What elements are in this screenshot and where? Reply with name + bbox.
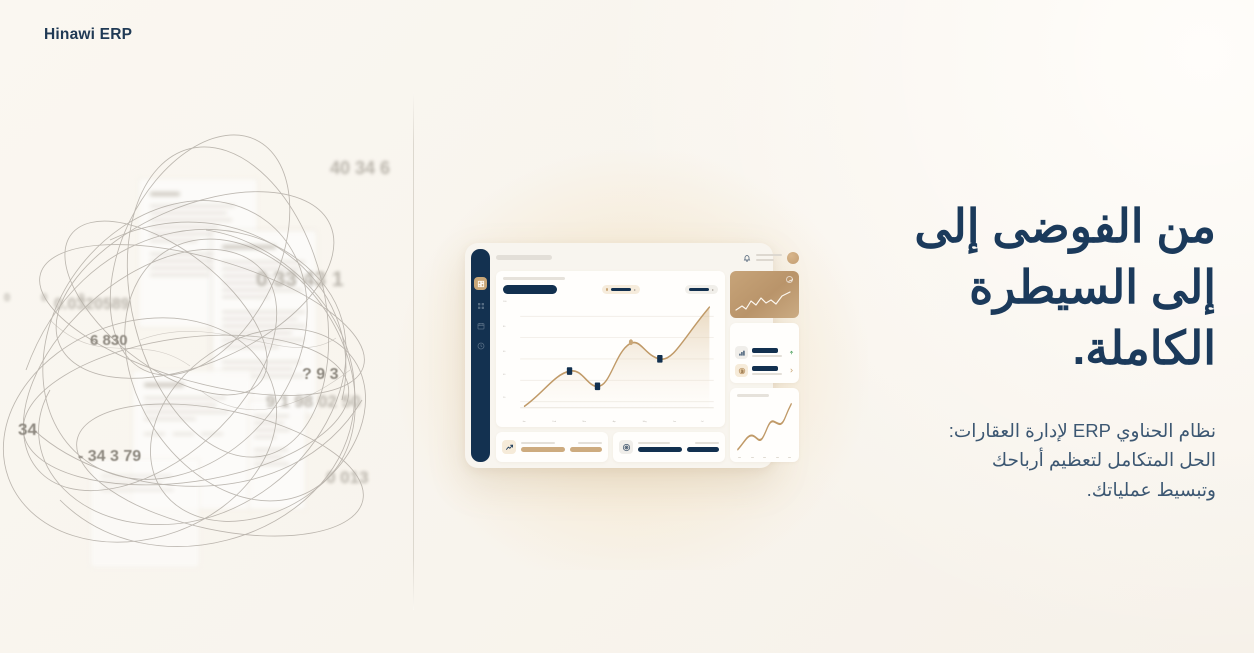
brand-logo-text: Hinawi ERP — [44, 26, 132, 44]
x-tick-label: May — [643, 421, 647, 423]
tablet-device-mockup: 100 80 60 40 20 Jan Feb Mar Apr May Jun — [465, 243, 773, 468]
dashboard-topbar — [496, 249, 799, 266]
chaos-number: - 34 3 79 — [78, 448, 141, 466]
x-tick-label: Feb — [552, 421, 556, 423]
headline-line-1: من الفوضى إلى — [786, 196, 1216, 257]
y-tick-label: 80 — [503, 326, 505, 328]
kpi-value-block — [638, 442, 682, 452]
chaos-number: 9 1 98 02 50 — [266, 392, 361, 412]
notifications-button[interactable] — [743, 254, 751, 262]
x-tick-label: Apr — [613, 421, 616, 423]
chaos-number: 0 0 0 — [4, 292, 98, 304]
dashboard-main-column: 100 80 60 40 20 Jan Feb Mar Apr May Jun — [496, 271, 725, 462]
dashboard-body: 100 80 60 40 20 Jan Feb Mar Apr May Jun — [496, 271, 799, 462]
hero-copy: من الفوضى إلى إلى السيطرة الكاملة. نظام … — [786, 196, 1216, 505]
kpi-value-block — [687, 442, 719, 452]
page-title-placeholder — [496, 255, 552, 260]
tangled-lines — [0, 70, 420, 630]
bell-icon — [743, 254, 751, 262]
kpi-icon-wrap — [619, 440, 633, 454]
chart-filter-chip-2[interactable] — [685, 285, 718, 294]
chart-card-header — [503, 277, 718, 294]
subtitle-line-2: الحل المتكامل لتعظيم أرباحك — [786, 445, 1216, 475]
kpi-icon-wrap — [502, 440, 516, 454]
dashboard-screen: 100 80 60 40 20 Jan Feb Mar Apr May Jun — [471, 249, 799, 462]
sidebar-item-grid[interactable] — [477, 302, 485, 310]
headline-line-2: إلى السيطرة — [786, 257, 1216, 318]
subtitle-line-1: نظام الحناوي ERP لإدارة العقارات: — [786, 416, 1216, 446]
list-item-icon-wrap — [735, 364, 748, 377]
x-tick-label: Jul — [701, 421, 704, 423]
sidebar-item-clock[interactable] — [477, 342, 485, 350]
sidebar-item-dashboard[interactable] — [474, 277, 487, 290]
list-item-text — [752, 348, 785, 357]
chaos-number: 0 013 — [326, 468, 369, 488]
bar-chart-icon — [738, 349, 746, 357]
chaos-number: 0 33 43 1 — [256, 268, 344, 292]
calendar-icon — [477, 322, 485, 330]
chaos-artwork: 40 34 6 0 33 43 1 0.0320589 6 830 34 - 3… — [0, 70, 420, 630]
chart-filter-chip-1[interactable] — [602, 285, 641, 294]
dashboard-sidebar[interactable] — [471, 249, 490, 462]
dashboard-content: 100 80 60 40 20 Jan Feb Mar Apr May Jun — [496, 249, 799, 462]
main-chart-card: 100 80 60 40 20 Jan Feb Mar Apr May Jun — [496, 271, 725, 427]
chart-toolbar — [503, 285, 718, 294]
subtitle: نظام الحناوي ERP لإدارة العقارات: الحل ا… — [786, 416, 1216, 506]
sidebar-item-calendar[interactable] — [477, 322, 485, 330]
grid-icon — [477, 302, 485, 310]
kpi-card-tan — [496, 432, 608, 462]
kpi-strip — [496, 432, 725, 462]
list-item-icon-wrap — [735, 346, 748, 359]
target-icon — [622, 443, 631, 452]
y-tick-label: 40 — [503, 374, 505, 376]
x-tick-label: Jun — [673, 421, 676, 423]
y-tick-label: 100 — [503, 301, 506, 303]
y-tick-label: 60 — [503, 351, 505, 353]
chaos-number: 34 — [18, 420, 37, 440]
subtitle-line-3: وتبسيط عملياتك. — [786, 475, 1216, 505]
chaos-number: 40 34 6 — [330, 158, 390, 179]
trend-up-icon — [505, 443, 514, 452]
x-tick-label: Mar — [583, 421, 587, 423]
area-line-chart — [503, 298, 718, 423]
clock-icon — [477, 342, 485, 350]
x-tick-label: Jan — [522, 421, 525, 423]
dashboard-icon — [477, 280, 485, 288]
coin-icon — [738, 367, 746, 375]
headline-line-3: الكاملة. — [786, 318, 1216, 379]
page-title: من الفوضى إلى إلى السيطرة الكاملة. — [786, 196, 1216, 380]
chaos-number: ? 9 3 — [302, 366, 338, 384]
chart-title-placeholder — [503, 277, 565, 280]
chaos-number: 6 830 — [90, 332, 128, 349]
y-tick-label: 20 — [503, 397, 505, 399]
chart-primary-button[interactable] — [503, 285, 557, 294]
list-item-text — [752, 366, 785, 375]
kpi-card-navy — [613, 432, 725, 462]
kpi-value-block — [570, 442, 602, 452]
chart-plot-area: 100 80 60 40 20 Jan Feb Mar Apr May Jun — [503, 298, 718, 423]
kpi-value-block — [521, 442, 565, 452]
user-name-placeholder — [756, 254, 782, 261]
hero-banner: Hinawi ERP — [0, 0, 1254, 653]
highlight-sparkline — [734, 290, 794, 314]
